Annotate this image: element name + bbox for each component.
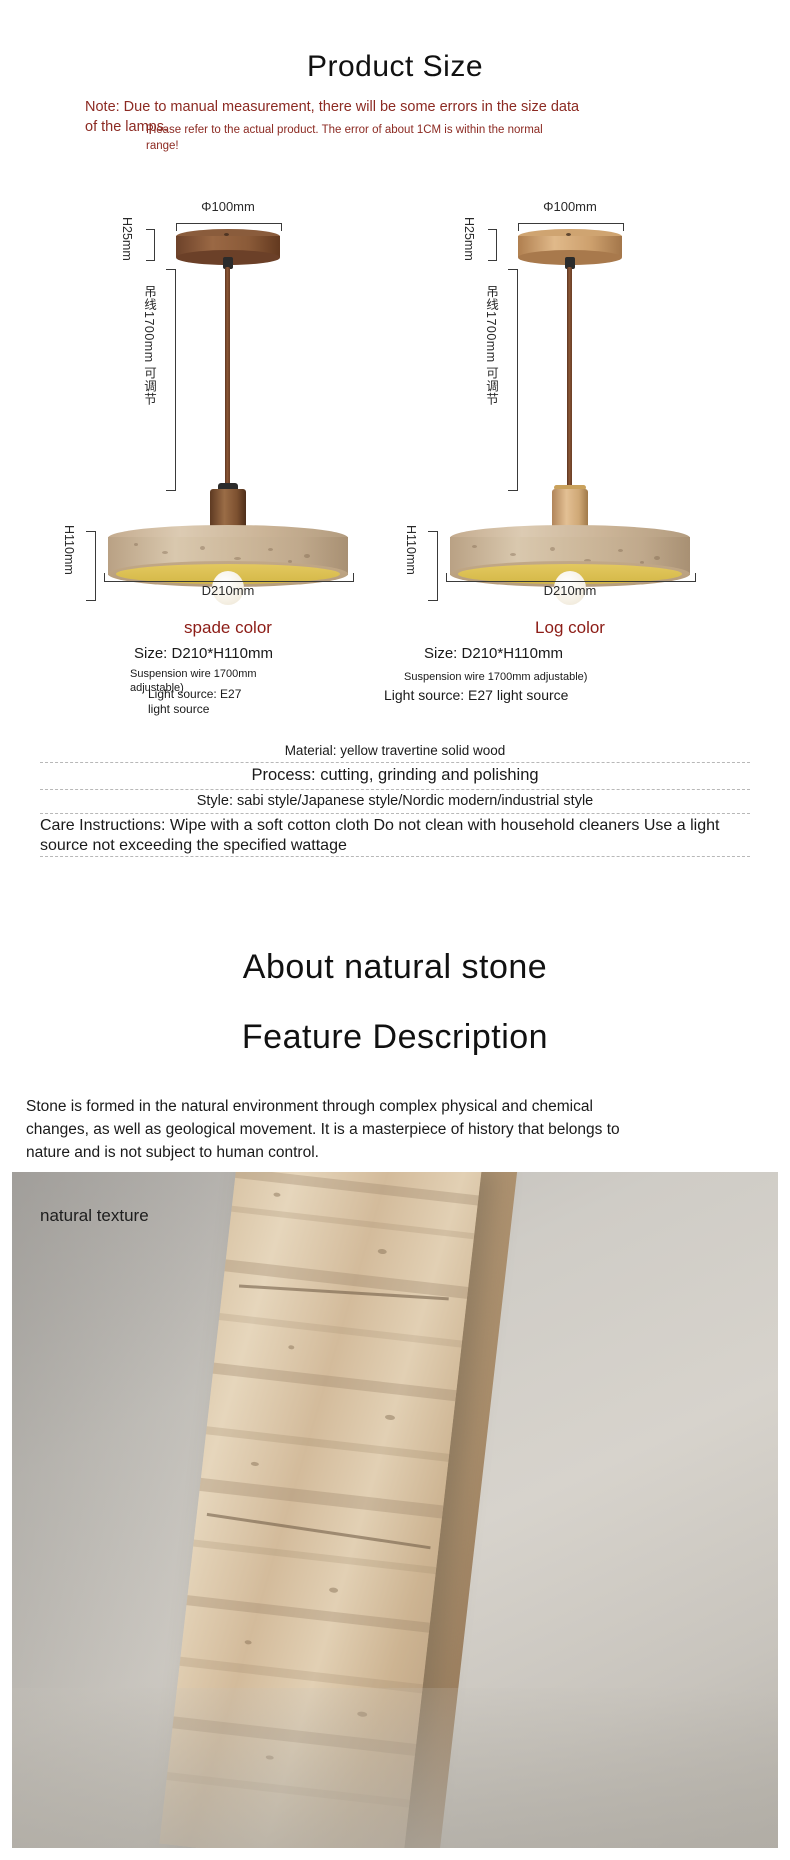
canopy-diameter-label: Φ100mm [400, 199, 740, 214]
suspension-cord [225, 267, 230, 489]
attribute-row-style: Style: sabi style/Japanese style/Nordic … [40, 790, 750, 814]
canopy-height-dimension-line [146, 229, 155, 261]
variant-light-source-log: Light source: E27 light source [384, 688, 724, 703]
canopy-diameter-label: Φ100mm [58, 199, 398, 214]
variant-wire-log: Suspension wire 1700mm adjustable) [404, 670, 704, 684]
variant-color-name-log: Log color [400, 618, 740, 638]
page-title: Product Size [0, 50, 790, 84]
natural-texture-label: natural texture [40, 1206, 149, 1226]
cord-length-label: 吊线1700mm 可调节 [482, 285, 501, 406]
lamp-diagram-log: Φ100mm H25mm 吊线1700mm 可调节 [400, 195, 740, 615]
shade-diameter-dimension-line [104, 573, 354, 582]
canopy-height-label: H25mm [462, 217, 476, 261]
ceiling-canopy [518, 229, 622, 259]
stone-description-paragraph: Stone is formed in the natural environme… [26, 1095, 646, 1164]
feature-description-heading: Feature Description [0, 1018, 790, 1057]
shade-height-label: H110mm [62, 525, 76, 575]
variant-color-name-spade: spade color [58, 618, 398, 638]
variant-light-source-spade: Light source: E27 light source [148, 687, 260, 717]
canopy-height-label: H25mm [120, 217, 134, 261]
canopy-screw-icon [566, 233, 571, 236]
attribute-row-process: Process: cutting, grinding and polishing [40, 763, 750, 790]
cord-length-dimension-line [508, 269, 518, 491]
natural-texture-photo [12, 1172, 778, 1848]
canopy-height-dimension-line [488, 229, 497, 261]
shade-diameter-label: D210mm [400, 583, 740, 598]
attribute-list: Material: yellow travertine solid wood P… [40, 740, 750, 857]
cord-length-label: 吊线1700mm 可调节 [140, 285, 159, 406]
attribute-row-material: Material: yellow travertine solid wood [40, 740, 750, 763]
variant-size-log: Size: D210*H110mm [424, 645, 563, 662]
measurement-note-sub: Please refer to the actual product. The … [146, 122, 576, 154]
lamp-diagram-spade: Φ100mm H25mm 吊线1700mm 可调节 [58, 195, 398, 615]
about-natural-stone-heading: About natural stone [0, 948, 790, 987]
variant-size-spade: Size: D210*H110mm [134, 645, 273, 662]
shade-height-label: H110mm [404, 525, 418, 575]
attribute-row-care: Care Instructions: Wipe with a soft cott… [40, 816, 750, 857]
canopy-screw-icon [224, 233, 229, 236]
ceiling-canopy [176, 229, 280, 259]
suspension-cord [567, 267, 572, 489]
shade-diameter-dimension-line [446, 573, 696, 582]
shade-diameter-label: D210mm [58, 583, 398, 598]
product-size-diagrams: Φ100mm H25mm 吊线1700mm 可调节 [0, 195, 790, 615]
cord-length-dimension-line [166, 269, 176, 491]
photo-floor-shadow [12, 1688, 778, 1848]
